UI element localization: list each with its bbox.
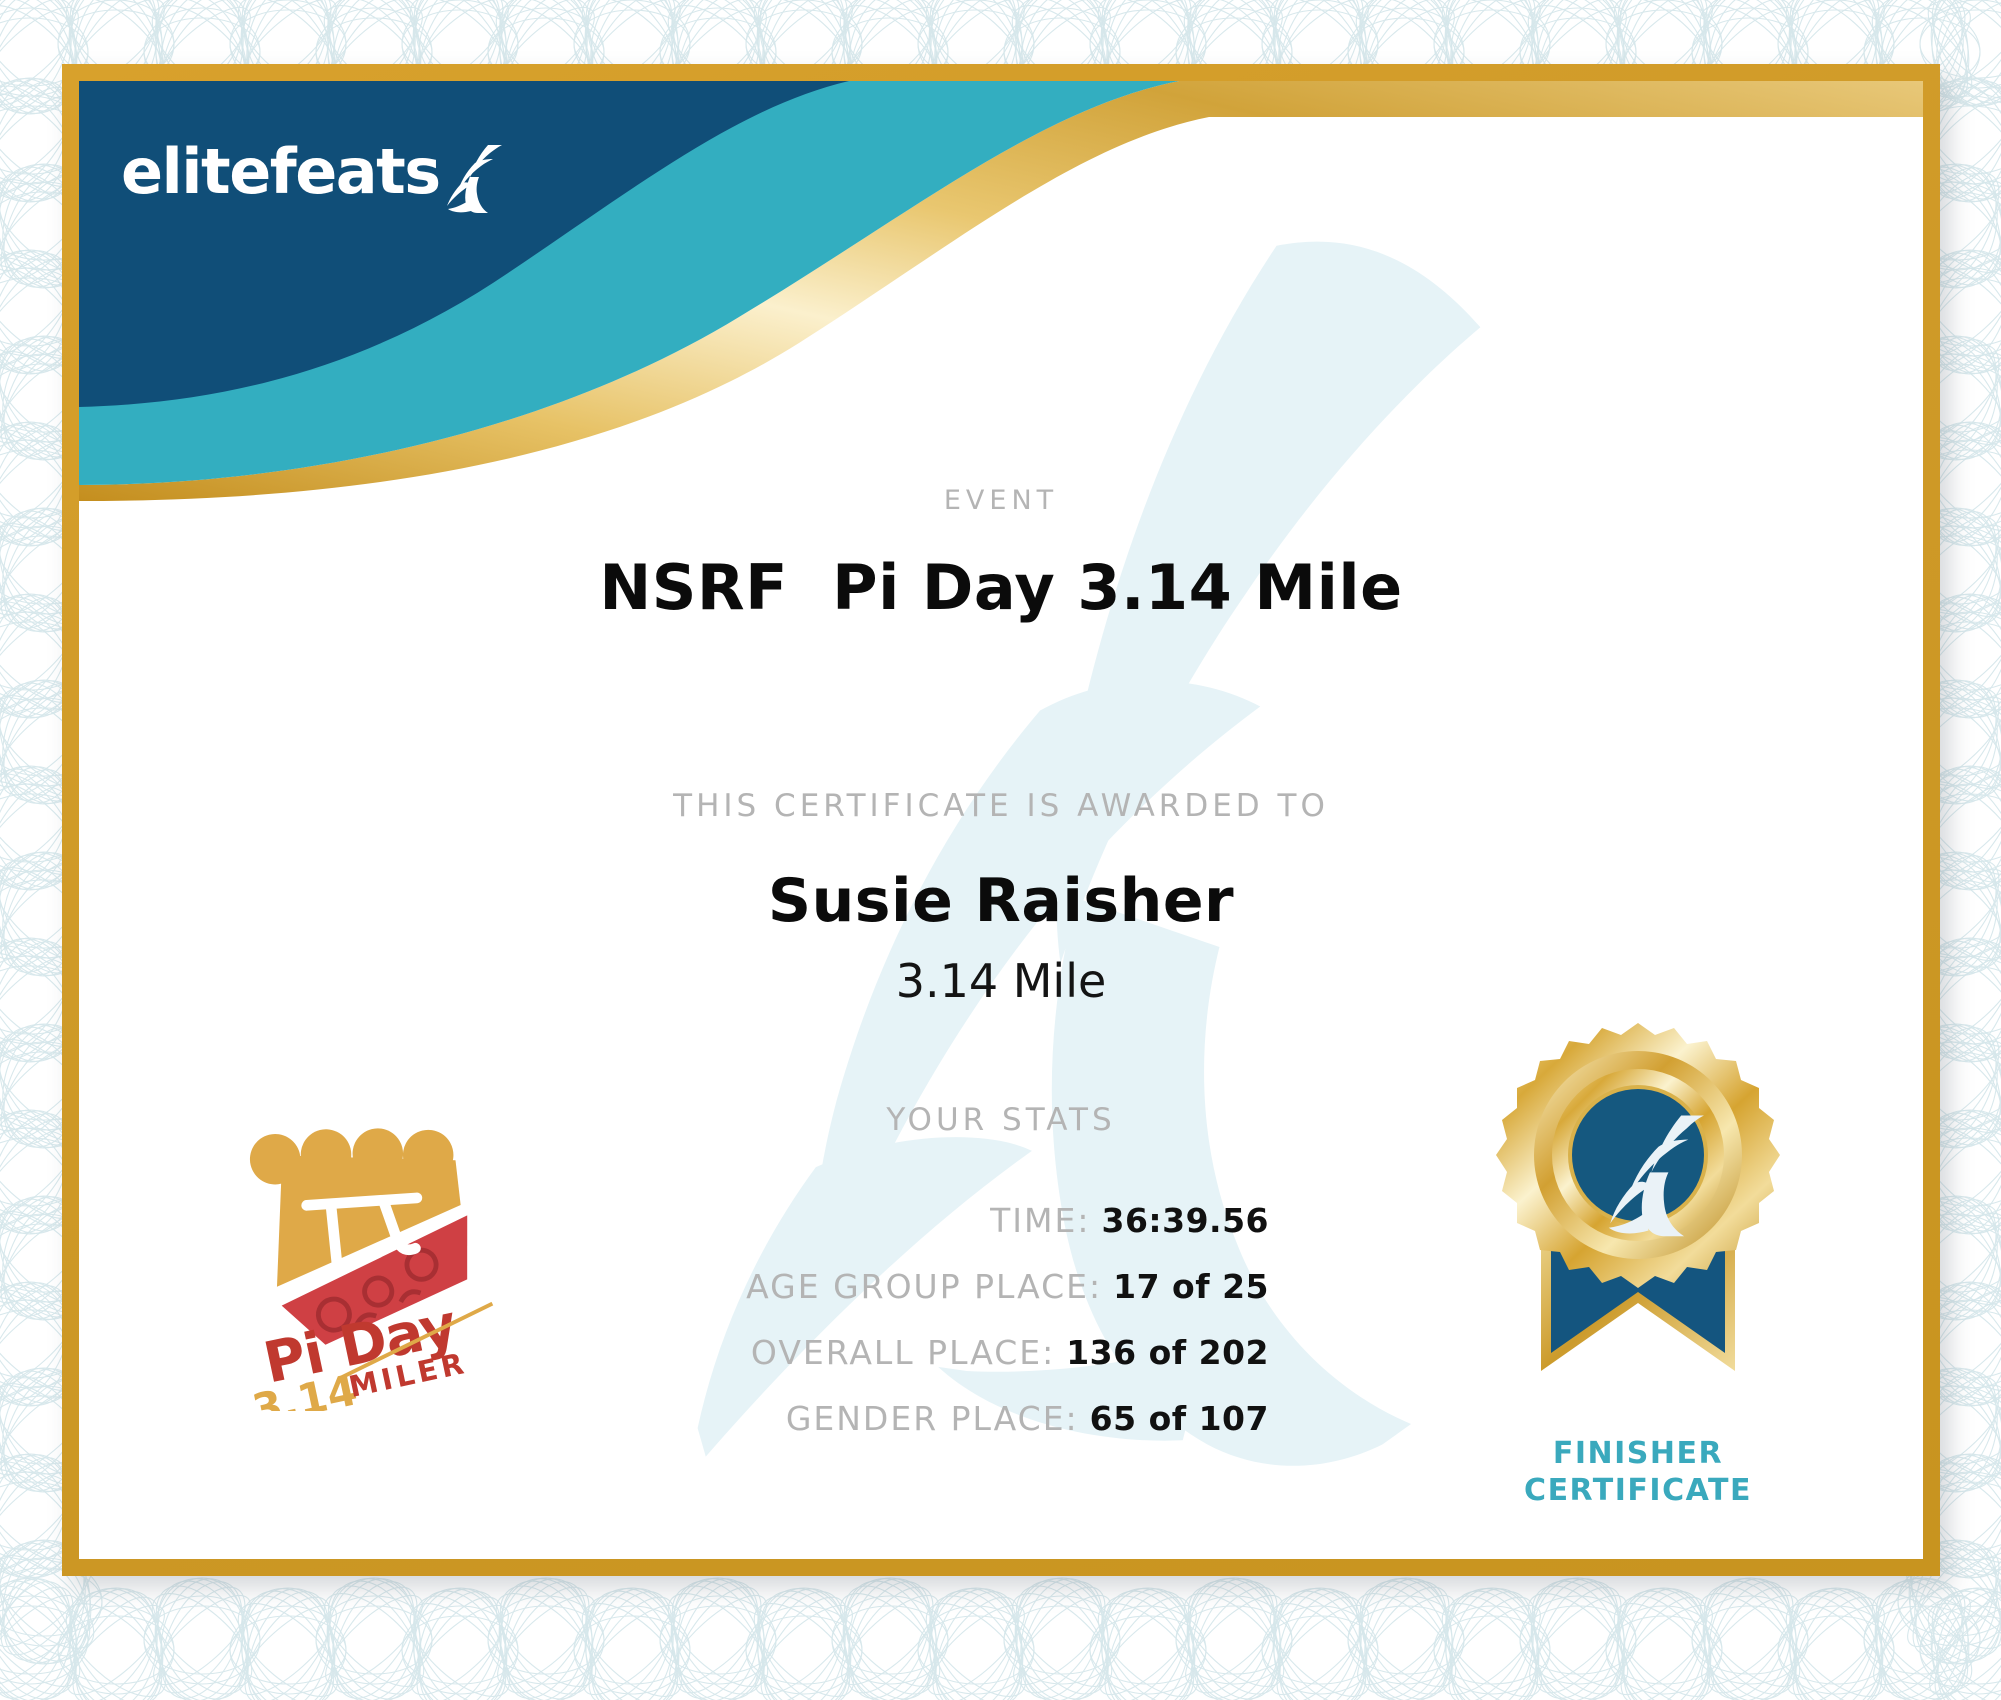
event-title: NSRF Pi Day 3.14 Mile xyxy=(79,551,1923,624)
stat-value: 136 of 202 xyxy=(1066,1333,1269,1372)
recipient-distance: 3.14 Mile xyxy=(79,954,1923,1008)
stat-value: 17 of 25 xyxy=(1113,1267,1269,1306)
pi-day-miler-logo: Pi Day 3.14 MILER xyxy=(209,1081,539,1411)
certificate-page: elitefeats EVENT NSRF Pi Day 3.14 Mile T… xyxy=(0,0,2001,1700)
stat-key: GENDER PLACE: xyxy=(786,1399,1079,1438)
awarded-to-label: THIS CERTIFICATE IS AWARDED TO xyxy=(79,788,1923,824)
stat-key: AGE GROUP PLACE: xyxy=(746,1267,1102,1306)
finisher-caption-line1: FINISHER xyxy=(1461,1436,1815,1473)
stat-value: 65 of 107 xyxy=(1090,1399,1269,1438)
finisher-medal-icon: 2023 xyxy=(1463,1021,1813,1421)
stat-value: 36:39.56 xyxy=(1101,1201,1269,1240)
finisher-caption-line2: CERTIFICATE xyxy=(1461,1473,1815,1510)
stat-key: OVERALL PLACE: xyxy=(751,1333,1055,1372)
certificate-body: EVENT NSRF Pi Day 3.14 Mile THIS CERTIFI… xyxy=(79,81,1923,1559)
stat-key: TIME: xyxy=(990,1201,1090,1240)
certificate-paper: elitefeats EVENT NSRF Pi Day 3.14 Mile T… xyxy=(79,81,1923,1559)
event-label: EVENT xyxy=(79,485,1923,516)
certificate-gold-frame: elitefeats EVENT NSRF Pi Day 3.14 Mile T… xyxy=(62,64,1940,1576)
recipient-name: Susie Raisher xyxy=(79,866,1923,936)
finisher-certificate-caption: FINISHER CERTIFICATE xyxy=(1461,1436,1815,1509)
